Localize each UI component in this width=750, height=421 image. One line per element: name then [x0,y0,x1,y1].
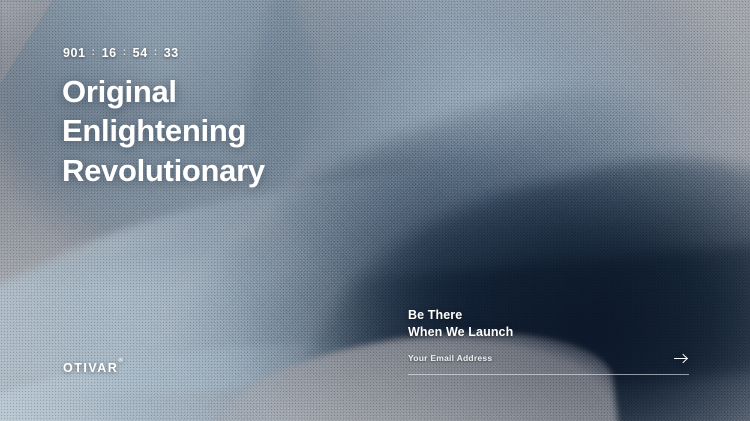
page-content: 901 : 16 : 54 : 33 Original Enlightening… [0,0,750,421]
countdown-days: 901 [63,46,86,60]
hero-headline: Original Enlightening Revolutionary [62,72,265,190]
countdown-minutes: 54 [133,46,148,60]
brand-logo-text: OTIVAR [63,361,118,375]
signup-title: Be There When We Launch [408,307,689,341]
email-input[interactable] [408,353,673,363]
signup-title-line-1: Be There [408,307,689,324]
countdown-separator-2: : [122,47,128,58]
arrow-right-icon [674,353,689,364]
countdown-separator-3: : [153,47,159,58]
registered-trademark-icon: ® [118,357,123,364]
hero-line-1: Original [62,72,265,111]
landing-page: 901 : 16 : 54 : 33 Original Enlightening… [0,0,750,421]
countdown-seconds: 33 [164,46,179,60]
signup-title-line-2: When We Launch [408,324,689,341]
countdown-hours: 16 [102,46,117,60]
brand-logo[interactable]: OTIVAR® [63,361,123,375]
signup-submit-button[interactable] [673,351,689,365]
hero-line-3: Revolutionary [62,151,265,190]
hero-line-2: Enlightening [62,111,265,150]
countdown-separator-1: : [91,47,97,58]
signup-form [408,351,689,375]
signup-section: Be There When We Launch [408,307,689,341]
countdown-timer: 901 : 16 : 54 : 33 [63,46,179,60]
